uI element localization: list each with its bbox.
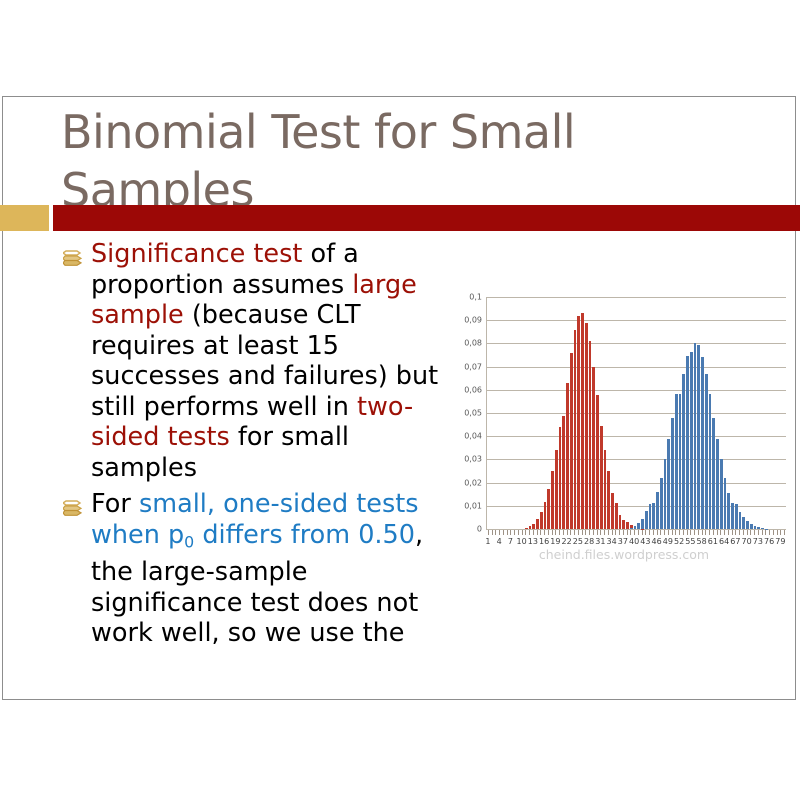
x-axis-tick bbox=[638, 530, 639, 535]
chart-bar bbox=[720, 459, 723, 529]
list-item: Significance test of a proportion assume… bbox=[63, 239, 451, 483]
x-axis-tick-label: 52 bbox=[674, 537, 684, 546]
chart-bar bbox=[724, 478, 727, 529]
x-axis-tick bbox=[750, 530, 751, 535]
chart-watermark: cheind.files.wordpress.com bbox=[458, 547, 790, 562]
y-axis-tick-label: 0,09 bbox=[464, 316, 482, 325]
chart-bar bbox=[611, 493, 614, 529]
x-axis-tick-label: 46 bbox=[652, 537, 662, 546]
x-axis-tick bbox=[657, 530, 658, 535]
chart-bar bbox=[686, 356, 689, 529]
stacked-books-bullet-icon bbox=[63, 499, 85, 519]
chart-bar bbox=[630, 528, 633, 529]
x-axis-tick bbox=[627, 530, 628, 535]
x-axis-tick-label: 13 bbox=[528, 537, 538, 546]
y-axis-tick-label: 0,04 bbox=[464, 432, 482, 441]
list-item-text: Significance test of a proportion assume… bbox=[63, 239, 451, 483]
x-axis-tick bbox=[713, 530, 714, 535]
x-axis-tick-label: 43 bbox=[640, 537, 650, 546]
x-axis-tick bbox=[612, 530, 613, 535]
y-axis-tick-label: 0,03 bbox=[464, 455, 482, 464]
y-axis-tick-label: 0,06 bbox=[464, 385, 482, 394]
x-axis-tick bbox=[544, 530, 545, 535]
x-axis-tick bbox=[672, 530, 673, 535]
x-axis-tick-label: 19 bbox=[550, 537, 560, 546]
x-axis-tick bbox=[507, 530, 508, 535]
x-axis-tick bbox=[702, 530, 703, 535]
x-axis-tick bbox=[540, 530, 541, 535]
x-axis-tick bbox=[758, 530, 759, 535]
x-axis-tick bbox=[548, 530, 549, 535]
chart-bar bbox=[735, 504, 738, 529]
chart-bar bbox=[596, 395, 599, 529]
x-axis-tick bbox=[683, 530, 684, 535]
x-axis-tick bbox=[533, 530, 534, 535]
x-axis-tick-label: 67 bbox=[730, 537, 740, 546]
x-axis-tick bbox=[728, 530, 729, 535]
x-axis-tick bbox=[518, 530, 519, 535]
x-axis-ticks bbox=[486, 530, 786, 536]
x-axis-tick bbox=[769, 530, 770, 535]
x-axis-tick-label: 22 bbox=[562, 537, 572, 546]
x-axis-tick bbox=[765, 530, 766, 535]
x-axis-tick bbox=[574, 530, 575, 535]
chart-bar bbox=[761, 528, 764, 529]
x-axis-tick bbox=[690, 530, 691, 535]
x-axis-tick bbox=[510, 530, 511, 535]
x-axis-tick bbox=[694, 530, 695, 535]
chart-bar bbox=[701, 357, 704, 529]
x-axis-tick bbox=[525, 530, 526, 535]
chart-bar bbox=[525, 528, 528, 529]
x-axis-tick bbox=[660, 530, 661, 535]
x-axis-tick-label: 1 bbox=[485, 537, 490, 546]
x-axis-tick bbox=[717, 530, 718, 535]
accent-bar-red bbox=[53, 205, 800, 231]
x-axis-tick bbox=[615, 530, 616, 535]
chart-bar bbox=[592, 367, 595, 529]
chart-bar bbox=[697, 345, 700, 529]
x-axis-tick bbox=[495, 530, 496, 535]
chart-bar bbox=[536, 519, 539, 529]
page-title: Binomial Test for Small Samples bbox=[61, 103, 761, 219]
x-axis-tick-label: 79 bbox=[775, 537, 785, 546]
x-axis-tick bbox=[567, 530, 568, 535]
x-axis-tick-label: 64 bbox=[719, 537, 729, 546]
x-axis-tick bbox=[623, 530, 624, 535]
chart-bar bbox=[742, 517, 745, 529]
x-axis-tick-label: 61 bbox=[708, 537, 718, 546]
x-axis-tick bbox=[492, 530, 493, 535]
x-axis-tick-label: 28 bbox=[584, 537, 594, 546]
x-axis-tick bbox=[563, 530, 564, 535]
x-axis-tick bbox=[739, 530, 740, 535]
x-axis-tick-label: 4 bbox=[497, 537, 502, 546]
x-axis-tick bbox=[578, 530, 579, 535]
slide-body: Significance test of a proportion assume… bbox=[63, 239, 451, 694]
chart-bar bbox=[544, 502, 547, 529]
presentation-slide: Binomial Test for Small Samples Signific… bbox=[2, 96, 796, 700]
chart-bar bbox=[660, 478, 663, 529]
chart-bar bbox=[532, 524, 535, 529]
chart-bar bbox=[754, 526, 757, 529]
chart-bar bbox=[574, 330, 577, 529]
chart-bar bbox=[694, 343, 697, 529]
x-axis-tick-label: 16 bbox=[539, 537, 549, 546]
chart-bar bbox=[641, 519, 644, 529]
x-axis-tick bbox=[664, 530, 665, 535]
x-axis-tick bbox=[559, 530, 560, 535]
chart-bar bbox=[615, 503, 618, 529]
chart-bar bbox=[709, 394, 712, 529]
chart-bar bbox=[716, 439, 719, 529]
chart-bar bbox=[607, 471, 610, 529]
chart-bar bbox=[739, 512, 742, 529]
y-axis-tick-label: 0,1 bbox=[469, 293, 482, 302]
x-axis-tick bbox=[604, 530, 605, 535]
x-axis-tick bbox=[589, 530, 590, 535]
x-axis-tick bbox=[630, 530, 631, 535]
x-axis-tick bbox=[634, 530, 635, 535]
x-axis-tick bbox=[743, 530, 744, 535]
chart-bar bbox=[667, 439, 670, 529]
accent-bar-gold bbox=[0, 205, 49, 231]
x-axis-tick-label: 31 bbox=[595, 537, 605, 546]
x-axis-tick bbox=[503, 530, 504, 535]
y-axis-tick-label: 0,07 bbox=[464, 362, 482, 371]
chart-bar bbox=[604, 450, 607, 529]
x-axis-tick bbox=[555, 530, 556, 535]
x-axis-tick bbox=[488, 530, 489, 535]
x-axis-tick bbox=[608, 530, 609, 535]
x-axis-tick bbox=[762, 530, 763, 535]
chart-bar bbox=[675, 394, 678, 529]
chart-canvas bbox=[486, 297, 786, 529]
x-axis-tick bbox=[649, 530, 650, 535]
chart-bar bbox=[750, 524, 753, 529]
chart-bar bbox=[600, 426, 603, 529]
x-axis-tick bbox=[687, 530, 688, 535]
chart-bar bbox=[626, 522, 629, 529]
x-axis-tick-label: 76 bbox=[764, 537, 774, 546]
x-axis-tick bbox=[582, 530, 583, 535]
x-axis-tick-label: 55 bbox=[685, 537, 695, 546]
x-axis-tick bbox=[514, 530, 515, 535]
chart-bar bbox=[652, 503, 655, 529]
x-axis-tick bbox=[585, 530, 586, 535]
x-axis-tick bbox=[724, 530, 725, 535]
x-axis-tick bbox=[593, 530, 594, 535]
chart-bar bbox=[562, 416, 565, 529]
x-axis-tick bbox=[552, 530, 553, 535]
chart-bar bbox=[731, 503, 734, 529]
chart-bar bbox=[634, 526, 637, 529]
chart-bar bbox=[746, 521, 749, 529]
chart-bar bbox=[645, 511, 648, 529]
chart-bar bbox=[585, 323, 588, 529]
x-axis-tick bbox=[597, 530, 598, 535]
x-axis-tick-label: 34 bbox=[607, 537, 617, 546]
chart-bar bbox=[540, 512, 543, 529]
x-axis-tick bbox=[653, 530, 654, 535]
chart-plot-area: 00,010,020,030,040,050,060,070,080,090,1… bbox=[486, 297, 786, 529]
x-axis-tick-label: 10 bbox=[517, 537, 527, 546]
x-axis-tick bbox=[784, 530, 785, 535]
x-axis-tick bbox=[747, 530, 748, 535]
x-axis-tick bbox=[499, 530, 500, 535]
bullet-2-seg-1: For bbox=[91, 489, 139, 519]
x-axis-tick bbox=[529, 530, 530, 535]
chart-bar bbox=[589, 341, 592, 529]
x-axis-tick bbox=[642, 530, 643, 535]
y-axis-tick-label: 0 bbox=[477, 525, 482, 534]
chart-bar bbox=[551, 471, 554, 529]
x-axis-tick-label: 49 bbox=[663, 537, 673, 546]
chart-bar bbox=[664, 459, 667, 529]
x-axis-tick bbox=[705, 530, 706, 535]
chart-bar bbox=[566, 383, 569, 529]
y-axis-tick-label: 0,08 bbox=[464, 339, 482, 348]
x-axis-tick bbox=[522, 530, 523, 535]
chart-bar bbox=[757, 527, 760, 529]
chart-bar bbox=[619, 515, 622, 529]
chart-bar bbox=[656, 492, 659, 529]
slide-page: Binomial Test for Small Samples Signific… bbox=[0, 0, 800, 800]
x-axis-tick-label: 25 bbox=[573, 537, 583, 546]
list-item: For small, one-sided tests when p0 diffe… bbox=[63, 489, 451, 649]
chart-bar bbox=[682, 374, 685, 529]
chart-bar bbox=[727, 493, 730, 529]
list-item-text: For small, one-sided tests when p0 diffe… bbox=[63, 489, 451, 649]
bullet-2-subscript: 0 bbox=[184, 532, 194, 551]
chart-bar bbox=[559, 427, 562, 529]
chart-bar bbox=[577, 316, 580, 529]
x-axis-tick-label: 73 bbox=[753, 537, 763, 546]
chart-bar bbox=[705, 374, 708, 529]
chart-bar bbox=[649, 504, 652, 529]
chart-bar bbox=[529, 526, 532, 529]
x-axis-tick bbox=[773, 530, 774, 535]
x-axis-tick bbox=[732, 530, 733, 535]
chart-bar bbox=[555, 450, 558, 529]
chart-bar bbox=[712, 418, 715, 529]
x-axis-tick bbox=[709, 530, 710, 535]
x-axis-tick-label: 70 bbox=[742, 537, 752, 546]
x-axis-tick bbox=[537, 530, 538, 535]
x-axis-tick bbox=[675, 530, 676, 535]
chart-bars bbox=[487, 297, 786, 529]
x-axis-tick bbox=[720, 530, 721, 535]
chart-bar bbox=[679, 394, 682, 529]
x-axis-tick bbox=[679, 530, 680, 535]
x-axis-tick bbox=[780, 530, 781, 535]
chart-bar bbox=[671, 418, 674, 529]
stacked-books-bullet-icon bbox=[63, 249, 85, 269]
chart-bar bbox=[637, 523, 640, 529]
x-axis-tick bbox=[645, 530, 646, 535]
chart-bar bbox=[622, 520, 625, 529]
x-axis-tick bbox=[668, 530, 669, 535]
x-axis-tick bbox=[698, 530, 699, 535]
x-axis-tick-label: 40 bbox=[629, 537, 639, 546]
x-axis-tick-label: 58 bbox=[697, 537, 707, 546]
y-axis-tick-label: 0,02 bbox=[464, 478, 482, 487]
x-axis-tick bbox=[619, 530, 620, 535]
bullet-2-seg-4: differs from 0.50 bbox=[194, 520, 415, 550]
x-axis-tick bbox=[735, 530, 736, 535]
binomial-distribution-chart: 00,010,020,030,040,050,060,070,080,090,1… bbox=[458, 287, 790, 577]
chart-bar bbox=[581, 313, 584, 529]
x-axis-tick-label: 37 bbox=[618, 537, 628, 546]
x-axis-tick bbox=[600, 530, 601, 535]
chart-bar bbox=[547, 489, 550, 529]
chart-bar bbox=[570, 353, 573, 529]
y-axis-tick-label: 0,05 bbox=[464, 409, 482, 418]
x-axis-tick bbox=[777, 530, 778, 535]
bullet-1-seg-1: Significance test bbox=[91, 239, 302, 269]
x-axis-tick bbox=[570, 530, 571, 535]
y-axis-tick-label: 0,01 bbox=[464, 501, 482, 510]
x-axis-tick bbox=[754, 530, 755, 535]
chart-bar bbox=[690, 352, 693, 529]
x-axis-tick-label: 7 bbox=[508, 537, 513, 546]
